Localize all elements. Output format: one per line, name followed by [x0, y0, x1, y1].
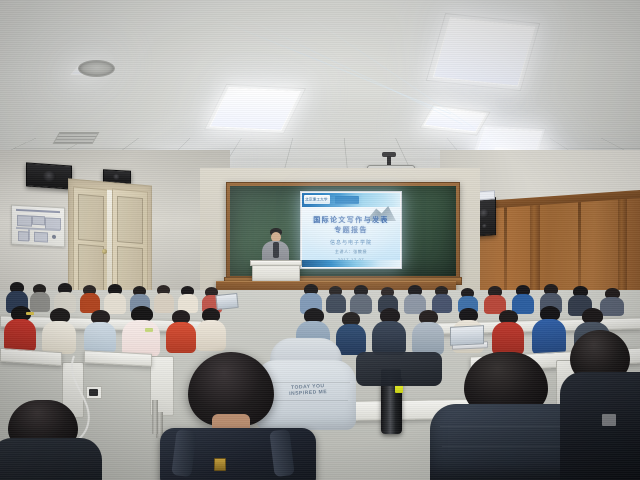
- outlet-plug-icon: [89, 389, 98, 396]
- university-logo-text: 北京理工大学: [305, 197, 328, 202]
- jacket-badge: [145, 328, 153, 332]
- speaker-cone-icon: [479, 209, 489, 219]
- person-torso: [412, 322, 444, 355]
- power-outlet[interactable]: [86, 386, 102, 399]
- evacuation-floor-plan: [11, 205, 65, 248]
- evac-room-block-5: [34, 232, 48, 243]
- audience-person: [4, 306, 36, 350]
- laptop-screen-right: [450, 325, 484, 346]
- audience-person: [492, 310, 524, 354]
- wall-speaker-left: [26, 162, 72, 189]
- slide-title-line2: 专题报告: [302, 225, 400, 235]
- foreground-student-center: [160, 352, 320, 480]
- evac-room-block-4: [18, 231, 29, 242]
- desk-bag: [356, 352, 442, 386]
- ceiling-vent-round: [78, 60, 115, 77]
- slide-title-line1: 国际论文写作与发表: [302, 215, 400, 225]
- audience-person: [122, 306, 160, 356]
- person-torso: [4, 319, 36, 352]
- presentation-slide: 北京理工大学 国际论文写作与发表 专题报告 信息与电子学院 主讲人：张教授 20…: [302, 193, 400, 267]
- evac-sign-title-bar: [16, 209, 60, 213]
- audience-person: [42, 308, 76, 352]
- backpack-logo: [214, 458, 226, 471]
- tablet-left[interactable]: [215, 293, 238, 310]
- dark-jacket-body: [0, 438, 102, 480]
- person-torso: [372, 321, 406, 355]
- person-torso: [196, 320, 226, 351]
- ceiling-vent-square-1: [53, 132, 100, 144]
- door-knob-icon[interactable]: [102, 249, 107, 254]
- door-panel-upper: [117, 196, 143, 244]
- slide-presenter-line: 主讲人：张教授: [302, 249, 400, 255]
- lectern-top: [250, 260, 302, 266]
- dark-jacket-body: [560, 372, 640, 480]
- audience-person: [84, 310, 116, 352]
- foreground-student-far-right: [560, 330, 640, 480]
- speaker-cone-icon: [113, 174, 120, 180]
- audience-person: [412, 310, 444, 354]
- audience-person: [196, 308, 226, 350]
- slide-header-tab: [335, 196, 359, 204]
- slide-subtitle: 信息与电子学院: [302, 239, 400, 246]
- slide-footer-band: [302, 260, 400, 267]
- person-torso: [166, 322, 196, 353]
- jacket-print: [602, 414, 616, 426]
- presenter-inner-shirt: [273, 242, 279, 258]
- person-torso: [492, 322, 524, 355]
- ceiling-light-2: [433, 17, 536, 86]
- foreground-student-far-left: [0, 400, 100, 480]
- person-torso: [122, 320, 160, 357]
- desk-leg-left-3: [152, 400, 158, 434]
- speaker-cone-icon: [43, 171, 56, 183]
- audience-person: [372, 308, 406, 354]
- door-panel-upper: [78, 194, 104, 242]
- person-glasses-icon: [26, 312, 34, 315]
- projection-screen: 北京理工大学 国际论文写作与发表 专题报告 信息与电子学院 主讲人：张教授 20…: [300, 191, 402, 269]
- evac-room-block-2: [32, 216, 45, 226]
- evac-room-block-1: [17, 215, 32, 227]
- evac-exit-dot: [52, 235, 56, 239]
- audience-person: [166, 310, 196, 352]
- speaker-tweeter-icon: [482, 224, 487, 228]
- lecture-hall-photo: 北京理工大学 国际论文写作与发表 专题报告 信息与电子学院 主讲人：张教授 20…: [0, 0, 640, 480]
